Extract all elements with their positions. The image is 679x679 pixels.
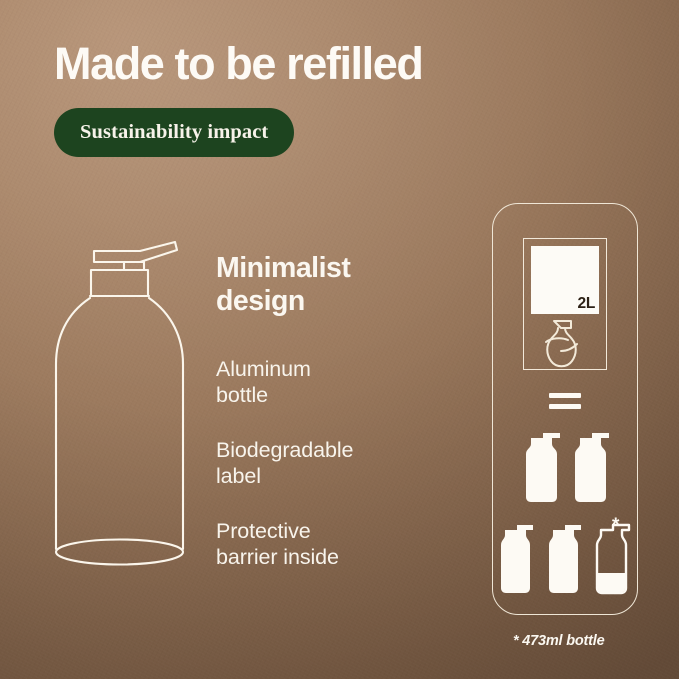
list-item-line1: Aluminum [216,357,311,381]
refill-pouch-icon [534,318,592,370]
refill-volume-label: 2L [531,246,599,314]
badge-label: Sustainability impact [80,121,268,144]
list-item: Biodegradable label [216,438,446,489]
list-item-line1: Biodegradable [216,438,353,462]
feature-list: Minimalist design Aluminum bottle Biodeg… [216,252,446,570]
list-item: Aluminum bottle [216,357,446,408]
feature-heading: Minimalist design [216,252,446,318]
refill-volume-value: 2L [578,295,596,313]
product-infographic: Made to be refilled Sustainability impac… [0,0,679,679]
page-title: Made to be refilled [54,38,654,90]
list-item-line2: barrier inside [216,545,339,569]
list-item-line2: bottle [216,383,268,407]
list-item-line2: label [216,464,261,488]
status-badge: Sustainability impact [54,108,294,157]
bottle-yield-group [497,425,633,600]
equals-bar-bottom [549,404,581,409]
footnote: * 473ml bottle [513,633,604,649]
equals-bar-top [549,393,581,398]
asterisk-marker: * [612,516,619,535]
feature-heading-line1: Minimalist [216,252,350,284]
equals-icon [549,393,581,411]
feature-heading-line2: design [216,285,305,317]
pump-bottle-outline-icon [44,222,219,594]
list-item: Protective barrier inside [216,519,446,570]
list-item-line1: Protective [216,519,311,543]
